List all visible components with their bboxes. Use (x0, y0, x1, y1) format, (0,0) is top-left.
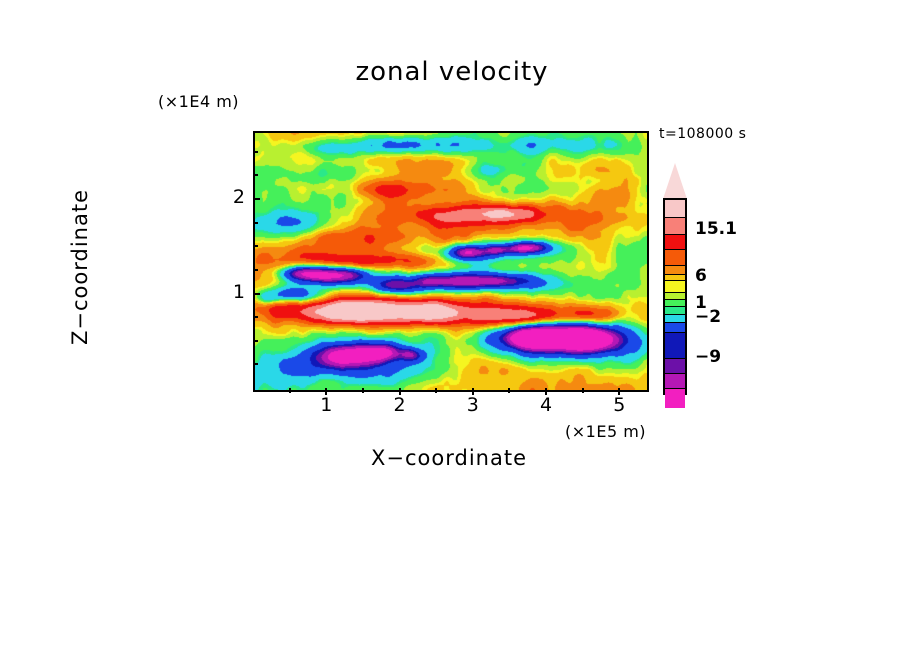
x-tick-minor (289, 388, 291, 393)
timestamp-annotation: t=108000 s (659, 126, 746, 142)
colorbar-band (665, 250, 685, 266)
colorbar-tick-label: 6 (695, 266, 707, 286)
x-tick-minor (362, 388, 364, 393)
y-tick-minor (253, 222, 258, 224)
colorbar-bands[interactable] (663, 198, 687, 395)
colorbar-band (665, 359, 685, 374)
colorbar[interactable]: 15.161−2−9 (659, 163, 693, 395)
colorbar-band (665, 389, 685, 408)
colorbar-tick-label: −9 (695, 347, 721, 367)
colorbar-band (665, 200, 685, 218)
x-tick-label: 3 (453, 394, 493, 416)
y-tick-minor (253, 151, 258, 153)
y-tick-major (253, 293, 260, 295)
page-title: zonal velocity (0, 57, 904, 87)
contour-plot-area[interactable] (253, 131, 649, 392)
colorbar-tick-label: 15.1 (695, 219, 737, 239)
colorbar-band (665, 333, 685, 359)
colorbar-band (665, 323, 685, 333)
x-tick-minor (508, 388, 510, 393)
colorbar-band (665, 266, 685, 275)
x-tick-label: 1 (306, 394, 346, 416)
x-tick-label: 5 (599, 394, 639, 416)
velocity-field-canvas (255, 133, 647, 390)
x-axis-title: X−coordinate (253, 446, 645, 470)
x-tick-label: 2 (380, 394, 420, 416)
colorbar-band (665, 307, 685, 315)
x-tick-label: 4 (526, 394, 566, 416)
colorbar-band (665, 300, 685, 307)
y-tick-major (253, 198, 260, 200)
y-tick-minor (253, 363, 258, 365)
colorbar-band (665, 374, 685, 389)
y-axis-title: Z−coordinate (68, 127, 92, 407)
y-tick-minor (253, 340, 258, 342)
y-tick-label: 2 (213, 186, 245, 208)
z-axis-unit-label: (×1E4 m) (158, 92, 239, 111)
colorbar-band (665, 315, 685, 323)
colorbar-band (665, 275, 685, 282)
y-tick-label: 1 (213, 281, 245, 303)
y-tick-minor (253, 316, 258, 318)
x-axis-unit-label: (×1E5 m) (565, 422, 646, 441)
x-tick-minor (582, 388, 584, 393)
colorbar-band (665, 218, 685, 235)
colorbar-tick-label: −2 (695, 307, 721, 327)
colorbar-extend-arrow-icon (663, 163, 687, 199)
y-tick-minor (253, 174, 258, 176)
y-tick-minor (253, 245, 258, 247)
colorbar-band (665, 293, 685, 300)
y-tick-minor (253, 269, 258, 271)
colorbar-band (665, 281, 685, 292)
x-tick-minor (435, 388, 437, 393)
colorbar-band (665, 235, 685, 251)
